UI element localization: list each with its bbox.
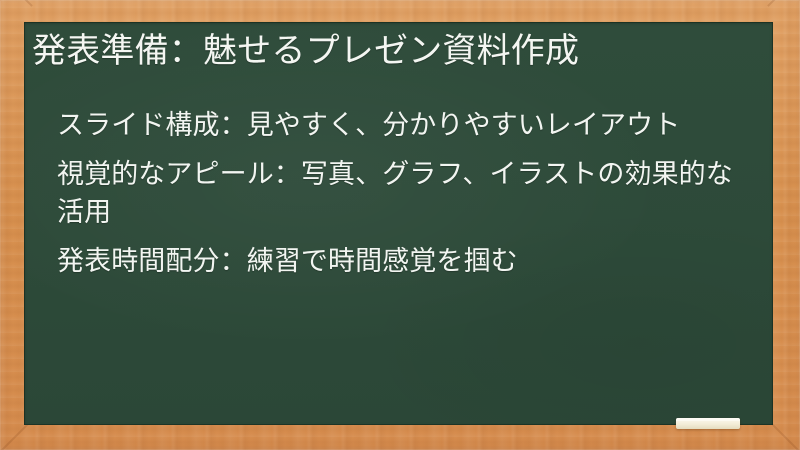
frame-miter-top-left	[0, 0, 33, 7]
chalkboard-surface: 発表準備：魅せるプレゼン資料作成 スライド構成：見やすく、分かりやすいレイアウト…	[24, 22, 773, 425]
frame-miter-top-right	[767, 0, 800, 7]
bullet-item: スライド構成：見やすく、分かりやすいレイアウト	[57, 106, 749, 144]
slide-title: 発表準備：魅せるプレゼン資料作成	[32, 28, 757, 74]
chalk-stick-icon	[676, 418, 740, 429]
board-content: 発表準備：魅せるプレゼン資料作成 スライド構成：見やすく、分かりやすいレイアウト…	[24, 22, 773, 425]
blackboard-slide: 発表準備：魅せるプレゼン資料作成 スライド構成：見やすく、分かりやすいレイアウト…	[0, 0, 800, 450]
bullet-item: 視覚的なアピール：写真、グラフ、イラストの効果的な活用	[57, 155, 749, 231]
bullet-list: スライド構成：見やすく、分かりやすいレイアウト 視覚的なアピール：写真、グラフ、…	[57, 106, 749, 280]
bullet-item: 発表時間配分：練習で時間感覚を掴む	[57, 242, 749, 280]
